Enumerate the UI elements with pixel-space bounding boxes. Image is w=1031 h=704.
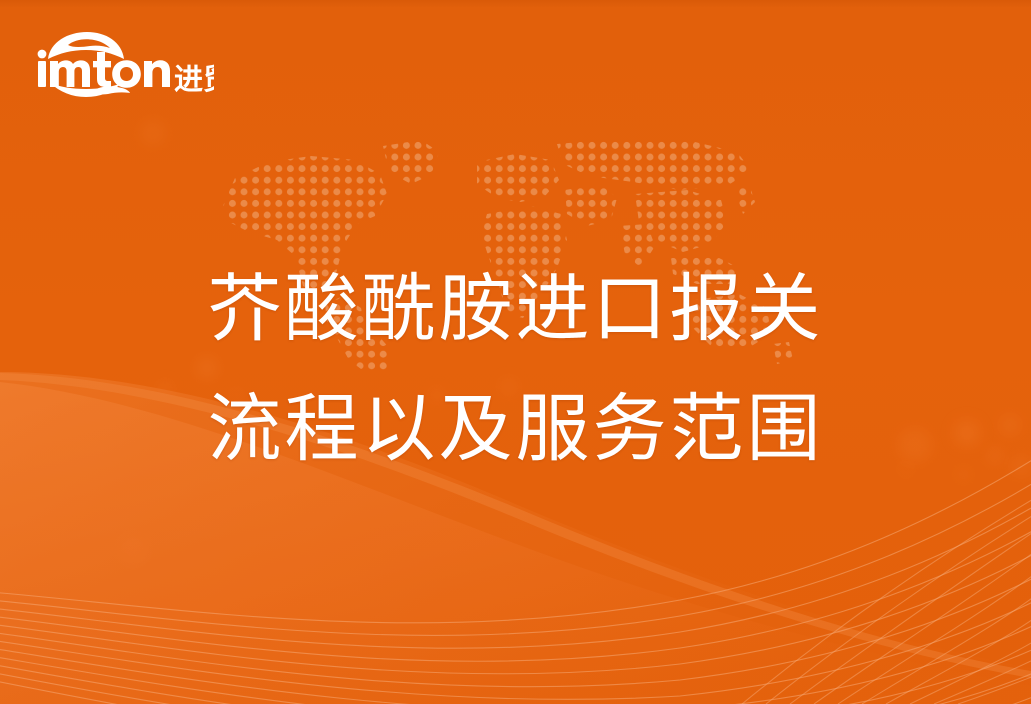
logo-wordmark	[38, 50, 170, 88]
company-logo[interactable]: 进贸通 ®	[34, 31, 214, 99]
promo-banner: 进贸通 ® 芥酸酰胺进口报关 流程以及服务范围	[0, 0, 1031, 704]
background-fill	[0, 0, 1031, 704]
logo-chinese-name: 进贸通	[174, 62, 214, 96]
